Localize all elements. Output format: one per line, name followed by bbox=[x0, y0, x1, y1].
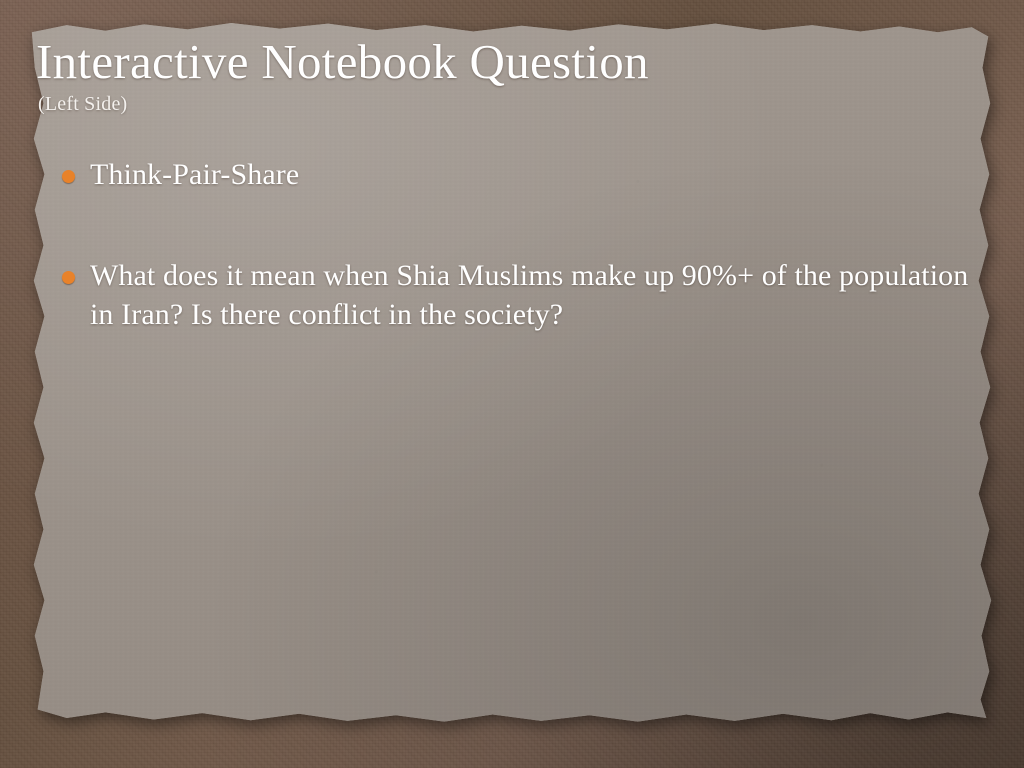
page-title: Interactive Notebook Question bbox=[36, 36, 964, 89]
list-item: What does it mean when Shia Muslims make… bbox=[30, 256, 988, 334]
bullet-list: Think-Pair-Share What does it mean when … bbox=[30, 155, 988, 334]
list-item-label: What does it mean when Shia Muslims make… bbox=[90, 256, 988, 334]
page-subtitle: (Left Side) bbox=[38, 93, 964, 115]
list-item: Think-Pair-Share bbox=[30, 155, 988, 194]
presentation-slide: Interactive Notebook Question (Left Side… bbox=[0, 0, 1024, 768]
title-block: Interactive Notebook Question (Left Side… bbox=[36, 36, 964, 115]
list-item-label: Think-Pair-Share bbox=[90, 155, 988, 194]
slide-content: Interactive Notebook Question (Left Side… bbox=[0, 0, 1024, 768]
bullet-dot-icon bbox=[62, 271, 75, 284]
body-block: Think-Pair-Share What does it mean when … bbox=[30, 155, 988, 334]
bullet-dot-icon bbox=[62, 170, 75, 183]
